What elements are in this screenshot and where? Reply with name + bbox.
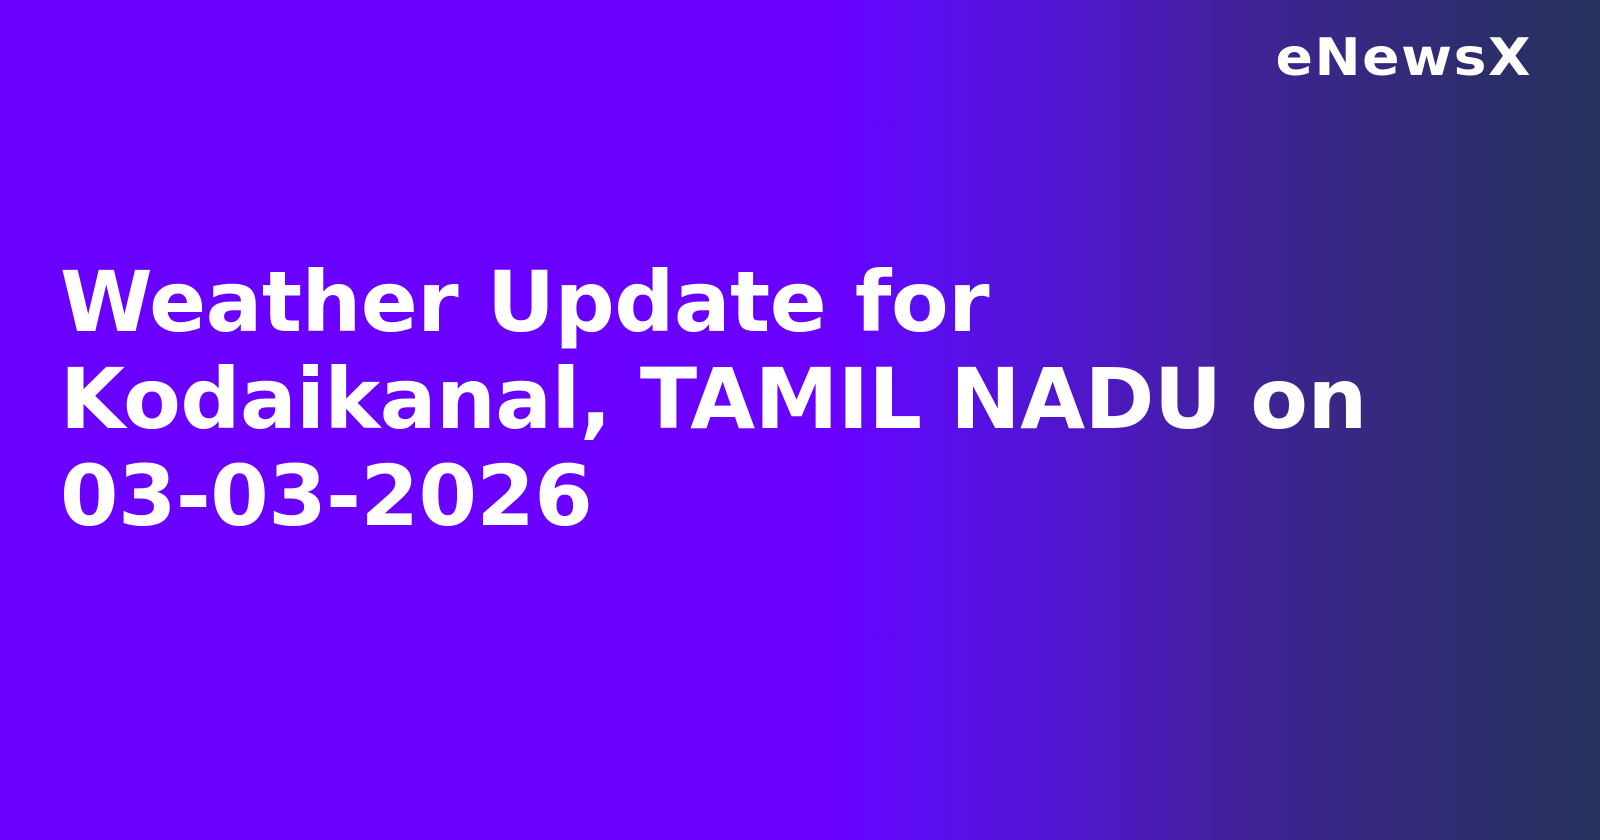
- headline-container: Weather Update for Kodaikanal, TAMIL NAD…: [60, 254, 1480, 545]
- page-title: Weather Update for Kodaikanal, TAMIL NAD…: [60, 254, 1480, 545]
- news-banner: eNewsX Weather Update for Kodaikanal, TA…: [0, 0, 1600, 840]
- brand-logo[interactable]: eNewsX: [1290, 32, 1532, 84]
- brand-logo-text: eNewsX: [1275, 32, 1532, 84]
